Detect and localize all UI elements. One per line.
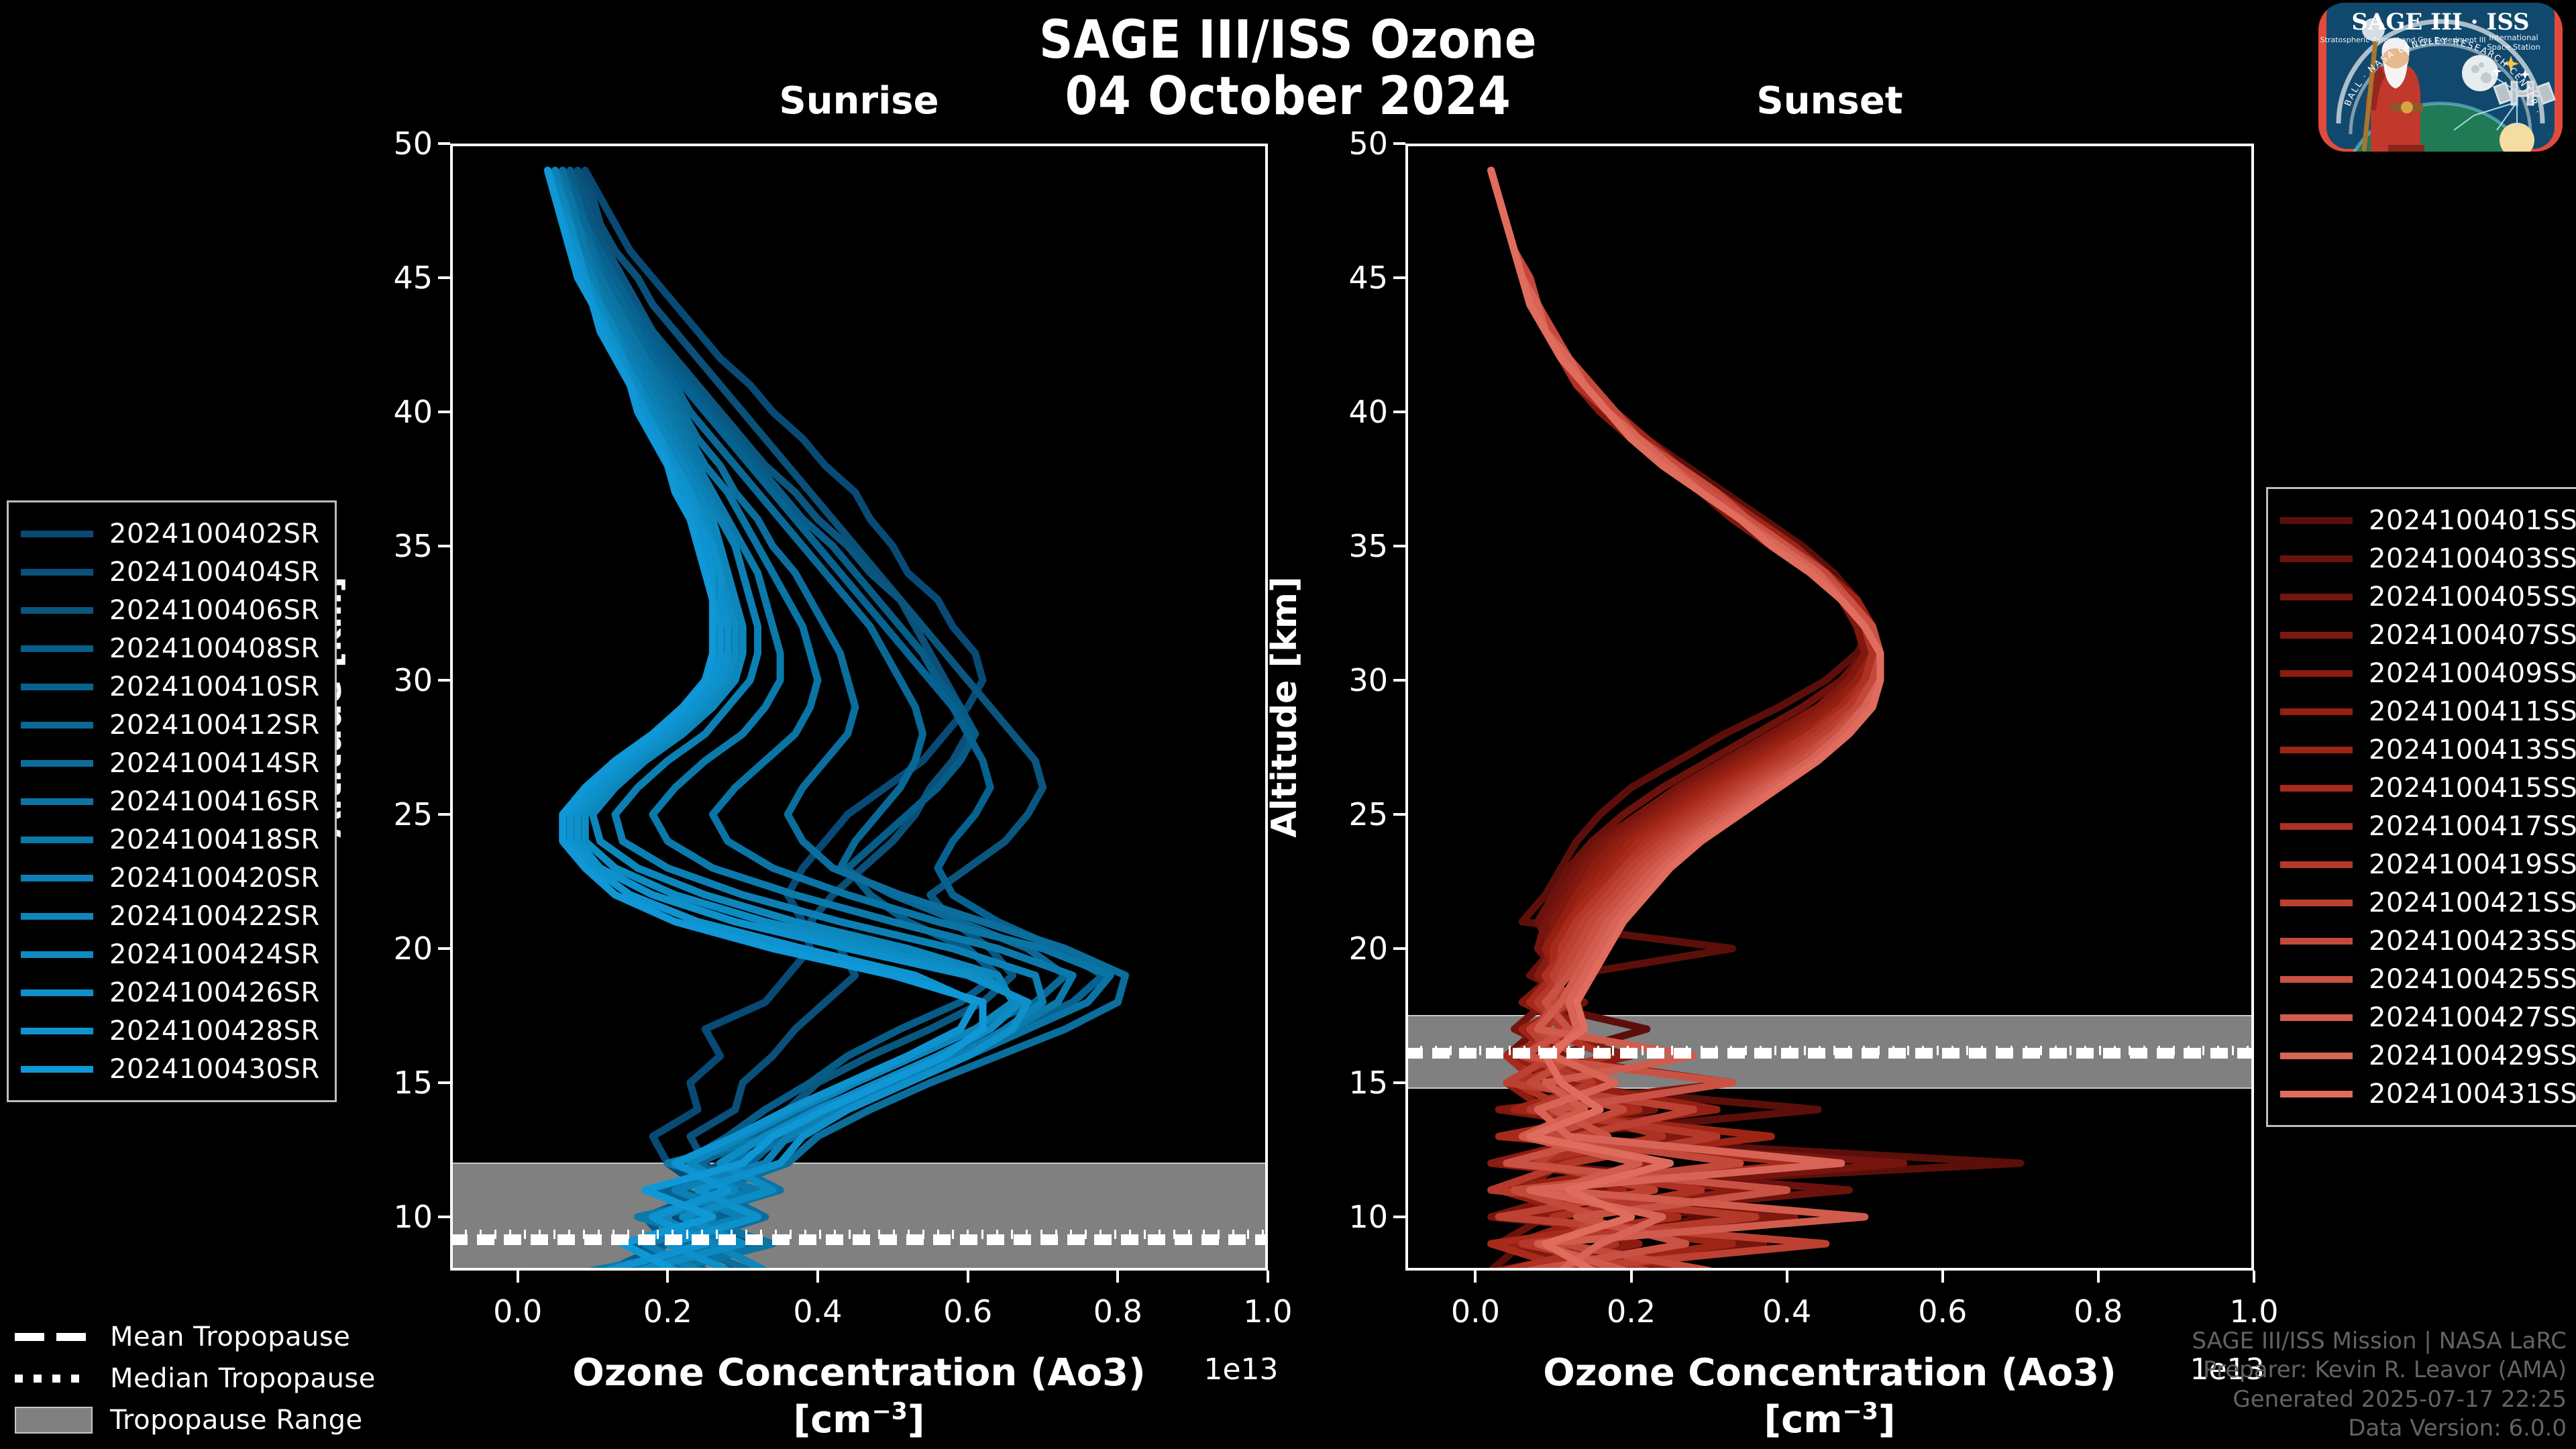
- legend-label: 2024100421SS: [2369, 888, 2576, 918]
- legend-item[interactable]: 2024100414SR: [21, 744, 320, 782]
- legend-color-swatch: [21, 722, 93, 729]
- legend-color-swatch: [2280, 632, 2353, 639]
- y-tick-label: 30: [1348, 662, 1388, 698]
- x-tick-label: 0.6: [943, 1293, 992, 1330]
- legend-label: 2024100417SS: [2369, 811, 2576, 842]
- legend-sunrise[interactable]: 2024100402SR2024100404SR2024100406SR2024…: [7, 500, 337, 1102]
- legend-item[interactable]: 2024100430SR: [21, 1050, 320, 1088]
- legend-color-swatch: [2280, 785, 2353, 792]
- y-tick-mark: [1393, 142, 1405, 145]
- y-tick-label: 25: [393, 796, 433, 833]
- legend-color-swatch: [21, 645, 93, 652]
- y-tick-mark: [438, 142, 450, 145]
- x-axis-units: [cm−3]: [450, 1397, 1268, 1444]
- legend-color-swatch: [2280, 900, 2353, 906]
- y-tick-mark: [438, 545, 450, 547]
- y-tick-mark: [1393, 276, 1405, 279]
- legend-color-swatch: [21, 875, 93, 881]
- y-tick-label: 10: [393, 1199, 433, 1235]
- legend-color-swatch: [2280, 823, 2353, 830]
- legend-color-swatch: [2280, 1014, 2353, 1021]
- title-line-1: SAGE III/ISS Ozone: [1039, 10, 1537, 70]
- plot-panel-sunset: Sunset1015202530354045500.00.20.40.60.81…: [1405, 144, 2254, 1271]
- y-tick-mark: [1393, 947, 1405, 950]
- legend-color-swatch: [21, 760, 93, 767]
- x-axis-label: Ozone Concentration (Ao3)[cm−3]: [1405, 1350, 2254, 1444]
- y-tick-mark: [438, 1081, 450, 1084]
- panel-title-sunset: Sunset: [1405, 79, 2254, 123]
- x-tick-mark: [2253, 1271, 2255, 1283]
- dotted-line-icon: [15, 1375, 93, 1383]
- legend-color-swatch: [21, 531, 93, 537]
- x-tick-label: 0.8: [2074, 1293, 2123, 1330]
- legend-color-swatch: [21, 1028, 93, 1034]
- legend-color-swatch: [21, 1066, 93, 1073]
- legend-item[interactable]: 2024100423SS: [2280, 922, 2576, 960]
- y-tick-label: 10: [1348, 1199, 1388, 1235]
- x-tick-label: 1.0: [1243, 1293, 1292, 1330]
- legend-item[interactable]: 2024100422SR: [21, 897, 320, 935]
- y-tick-label: 35: [393, 528, 433, 564]
- x-tick-mark: [1474, 1271, 1477, 1283]
- legend-label: 2024100407SS: [2369, 620, 2576, 651]
- x-tick-mark: [1941, 1271, 1944, 1283]
- x-tick-label: 0.4: [793, 1293, 842, 1330]
- y-tick-label: 20: [393, 930, 433, 967]
- legend-label: 2024100402SR: [109, 519, 320, 549]
- legend-item[interactable]: 2024100408SR: [21, 629, 320, 667]
- y-tick-mark: [438, 813, 450, 816]
- y-tick-label: 25: [1348, 796, 1388, 833]
- y-tick-label: 20: [1348, 930, 1388, 967]
- legend-label: 2024100405SS: [2369, 582, 2576, 612]
- x-tick-label: 1.0: [2229, 1293, 2278, 1330]
- x-axis-units: [cm−3]: [1405, 1397, 2254, 1444]
- credits-line-2: Preparer: Kevin R. Leavor (AMA): [2192, 1356, 2567, 1385]
- x-tick-mark: [1267, 1271, 1269, 1283]
- patch-subtitle-right-1: International: [2489, 33, 2538, 42]
- y-tick-mark: [438, 276, 450, 279]
- legend-label: 2024100426SR: [109, 977, 320, 1008]
- legend-item[interactable]: 2024100410SR: [21, 667, 320, 706]
- legend-item[interactable]: 2024100419SS: [2280, 845, 2576, 883]
- legend-item[interactable]: 2024100424SR: [21, 935, 320, 973]
- y-tick-label: 35: [1348, 528, 1388, 564]
- legend-color-swatch: [21, 569, 93, 576]
- legend-label: 2024100414SR: [109, 748, 320, 779]
- y-tick-label: 45: [1348, 260, 1388, 296]
- legend-color-swatch: [2280, 976, 2353, 983]
- plot-panel-sunrise: Sunrise1015202530354045500.00.20.40.60.8…: [450, 144, 1268, 1271]
- y-tick-label: 40: [1348, 394, 1388, 430]
- legend-label: 2024100424SR: [109, 939, 320, 970]
- legend-color-swatch: [21, 684, 93, 690]
- legend-label: 2024100404SR: [109, 557, 320, 588]
- y-tick-mark: [1393, 813, 1405, 816]
- legend-item[interactable]: 2024100418SR: [21, 820, 320, 859]
- legend-sunset[interactable]: 2024100401SS2024100403SS2024100405SS2024…: [2266, 487, 2576, 1127]
- legend-label: 2024100415SS: [2369, 773, 2576, 804]
- legend-color-swatch: [2280, 747, 2353, 753]
- legend-item[interactable]: 2024100428SR: [21, 1012, 320, 1050]
- legend-item[interactable]: 2024100425SS: [2280, 960, 2576, 998]
- credits-line-3: Generated 2025-07-17 22:25: [2192, 1385, 2567, 1415]
- legend-item[interactable]: 2024100431SS: [2280, 1075, 2576, 1113]
- legend-label: 2024100412SR: [109, 710, 320, 741]
- legend-color-swatch: [21, 989, 93, 996]
- legend-label-mean-tropopause: Mean Tropopause: [110, 1322, 350, 1352]
- legend-color-swatch: [2280, 708, 2353, 715]
- y-tick-label: 40: [393, 394, 433, 430]
- legend-color-swatch: [21, 798, 93, 805]
- legend-label: 2024100431SS: [2369, 1079, 2576, 1110]
- legend-color-swatch: [2280, 1091, 2353, 1097]
- legend-item-tropopause-range: Tropopause Range: [15, 1399, 376, 1441]
- credits-line-4: Data Version: 6.0.0: [2192, 1414, 2567, 1444]
- y-tick-label: 45: [393, 260, 433, 296]
- band-swatch-icon: [15, 1407, 93, 1434]
- legend-label: 2024100409SS: [2369, 658, 2576, 689]
- legend-label: 2024100420SR: [109, 863, 320, 894]
- legend-item[interactable]: 2024100411SS: [2280, 692, 2576, 731]
- x-axis-offset-exponent: 1e13: [1203, 1352, 1278, 1387]
- legend-label: 2024100425SS: [2369, 964, 2576, 995]
- legend-label: 2024100429SS: [2369, 1040, 2576, 1071]
- credits-line-1: SAGE III/ISS Mission | NASA LaRC: [2192, 1327, 2567, 1356]
- x-tick-mark: [666, 1271, 669, 1283]
- legend-label: 2024100410SR: [109, 672, 320, 702]
- axes-frame-sunrise: [450, 144, 1268, 1271]
- legend-label: 2024100428SR: [109, 1016, 320, 1046]
- y-tick-label: 15: [393, 1065, 433, 1101]
- patch-title: SAGE III · ISS: [2351, 9, 2529, 36]
- y-tick-mark: [1393, 679, 1405, 682]
- legend-item[interactable]: 2024100402SR: [21, 515, 320, 553]
- patch-subtitle-right-2: Space Station: [2487, 42, 2540, 52]
- legend-label: 2024100413SS: [2369, 735, 2576, 765]
- legend-item[interactable]: 2024100401SS: [2280, 501, 2576, 539]
- y-tick-label: 15: [1348, 1065, 1388, 1101]
- legend-color-swatch: [2280, 517, 2353, 524]
- legend-label: 2024100411SS: [2369, 696, 2576, 727]
- patch-subtitle-left: Stratospheric Aerosol and Gas Experiment…: [2320, 36, 2486, 44]
- x-axis-label-text: Ozone Concentration (Ao3): [572, 1351, 1145, 1395]
- y-tick-mark: [1393, 1081, 1405, 1084]
- legend-color-swatch: [21, 837, 93, 843]
- legend-item[interactable]: 2024100415SS: [2280, 769, 2576, 807]
- x-axis-label-text: Ozone Concentration (Ao3): [1543, 1351, 2116, 1395]
- panel-title-sunrise: Sunrise: [450, 79, 1268, 123]
- legend-color-swatch: [2280, 594, 2353, 600]
- legend-item[interactable]: 2024100417SS: [2280, 807, 2576, 845]
- legend-color-swatch: [21, 607, 93, 614]
- x-tick-label: 0.2: [1607, 1293, 1656, 1330]
- legend-label-median-tropopause: Median Tropopause: [110, 1363, 376, 1394]
- legend-color-swatch: [2280, 1053, 2353, 1059]
- legend-item[interactable]: 2024100413SS: [2280, 731, 2576, 769]
- x-tick-mark: [967, 1271, 969, 1283]
- x-tick-label: 0.4: [1762, 1293, 1811, 1330]
- x-tick-mark: [2097, 1271, 2100, 1283]
- y-tick-mark: [438, 411, 450, 413]
- tropopause-legend: Mean Tropopause Median Tropopause Tropop…: [15, 1316, 376, 1441]
- credits-block: SAGE III/ISS Mission | NASA LaRC Prepare…: [2192, 1327, 2567, 1444]
- x-tick-mark: [517, 1271, 519, 1283]
- legend-item-mean-tropopause: Mean Tropopause: [15, 1316, 376, 1358]
- legend-item[interactable]: 2024100416SR: [21, 782, 320, 820]
- legend-item[interactable]: 2024100403SS: [2280, 539, 2576, 578]
- legend-label: 2024100422SR: [109, 901, 320, 932]
- y-tick-mark: [438, 679, 450, 682]
- legend-color-swatch: [2280, 861, 2353, 868]
- y-tick-label: 50: [1348, 125, 1388, 162]
- legend-item[interactable]: 2024100427SS: [2280, 998, 2576, 1036]
- legend-label: 2024100403SS: [2369, 543, 2576, 574]
- legend-label: 2024100418SR: [109, 824, 320, 855]
- x-tick-mark: [1786, 1271, 1788, 1283]
- legend-label: 2024100419SS: [2369, 849, 2576, 880]
- x-tick-label: 0.0: [493, 1293, 542, 1330]
- y-tick-mark: [438, 1216, 450, 1218]
- legend-color-swatch: [21, 951, 93, 958]
- y-tick-mark: [438, 947, 450, 950]
- y-tick-mark: [1393, 1216, 1405, 1218]
- x-tick-label: 0.6: [1918, 1293, 1967, 1330]
- legend-item[interactable]: 2024100429SS: [2280, 1036, 2576, 1075]
- legend-item[interactable]: 2024100421SS: [2280, 883, 2576, 922]
- x-tick-label: 0.2: [643, 1293, 692, 1330]
- dashed-line-icon: [15, 1333, 93, 1341]
- legend-label: 2024100401SS: [2369, 505, 2576, 536]
- legend-label: 2024100423SS: [2369, 926, 2576, 957]
- x-tick-mark: [816, 1271, 819, 1283]
- legend-item[interactable]: 2024100412SR: [21, 706, 320, 744]
- sage-iii-iss-mission-patch-logo: BALL · NASA LANGLEY RESEARCH CENTER · ES…: [2316, 3, 2565, 152]
- y-tick-mark: [1393, 545, 1405, 547]
- legend-item-median-tropopause: Median Tropopause: [15, 1358, 376, 1399]
- axes-frame-sunset: [1405, 144, 2254, 1271]
- x-tick-mark: [1116, 1271, 1119, 1283]
- legend-label: 2024100406SR: [109, 595, 320, 626]
- legend-item[interactable]: 2024100420SR: [21, 859, 320, 897]
- legend-label-tropopause-range: Tropopause Range: [110, 1405, 363, 1436]
- legend-item[interactable]: 2024100409SS: [2280, 654, 2576, 692]
- x-tick-label: 0.0: [1451, 1293, 1500, 1330]
- legend-item[interactable]: 2024100406SR: [21, 591, 320, 629]
- legend-color-swatch: [21, 913, 93, 920]
- legend-label: 2024100408SR: [109, 633, 320, 664]
- legend-item[interactable]: 2024100405SS: [2280, 578, 2576, 616]
- x-axis-label: Ozone Concentration (Ao3)[cm−3]: [450, 1350, 1268, 1444]
- y-tick-mark: [1393, 411, 1405, 413]
- x-tick-mark: [1630, 1271, 1633, 1283]
- legend-item[interactable]: 2024100426SR: [21, 973, 320, 1012]
- legend-label: 2024100427SS: [2369, 1002, 2576, 1033]
- legend-label: 2024100430SR: [109, 1054, 320, 1085]
- y-tick-label: 50: [393, 125, 433, 162]
- y-tick-label: 30: [393, 662, 433, 698]
- legend-color-swatch: [2280, 670, 2353, 677]
- legend-item[interactable]: 2024100404SR: [21, 553, 320, 591]
- legend-item[interactable]: 2024100407SS: [2280, 616, 2576, 654]
- legend-label: 2024100416SR: [109, 786, 320, 817]
- legend-color-swatch: [2280, 555, 2353, 562]
- x-tick-label: 0.8: [1093, 1293, 1142, 1330]
- legend-color-swatch: [2280, 938, 2353, 945]
- y-axis-label: Altitude [km]: [1265, 576, 1305, 838]
